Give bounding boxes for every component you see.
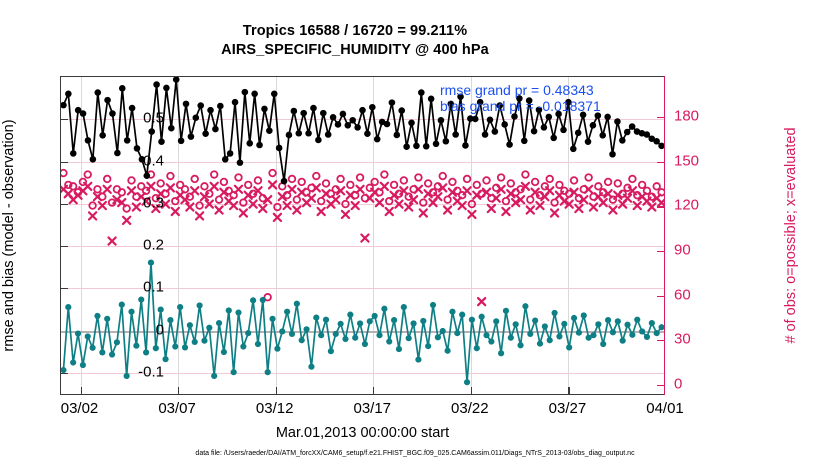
data-file-footer: data file: /Users/raeder/DAI/ATM_forcXX/… xyxy=(0,450,830,457)
chart-title-block: Tropics 16588 / 16720 = 99.211% AIRS_SPE… xyxy=(0,22,710,60)
y-tick-label-right: 150 xyxy=(674,152,699,169)
y-tick-label-left: 0.3 xyxy=(143,194,164,211)
x-tick-label: 03/22 xyxy=(451,400,489,417)
x-tick-label: 03/17 xyxy=(353,400,391,417)
y-axis-left-label: rmse and bias (model - observation) xyxy=(0,76,20,395)
x-tick-label: 03/02 xyxy=(61,400,99,417)
y-axis-right-label: # of obs: o=possible; x=evaluated xyxy=(780,76,802,395)
y-tick-label-right: 60 xyxy=(674,286,691,303)
y-tick-label-right: 180 xyxy=(674,108,699,125)
y-tick-label-left: 0.5 xyxy=(143,110,164,127)
y-tick-label-right: 90 xyxy=(674,242,691,259)
chart-legend: rmse grand pr = 0.48343 bias grand pr = … xyxy=(440,82,601,114)
y-tick-label-left: -0.1 xyxy=(138,363,164,380)
x-axis-label: Mar.01,2013 00:00:00 start xyxy=(60,425,665,441)
legend-item-rmse: rmse grand pr = 0.48343 xyxy=(440,82,601,98)
y-tick-label-left: 0 xyxy=(156,321,164,338)
y-tick-label-left: 0.2 xyxy=(143,237,164,254)
y-tick-label-left: 0.4 xyxy=(143,152,164,169)
chart-title-line1: Tropics 16588 / 16720 = 99.211% xyxy=(0,22,710,41)
legend-item-bias: bias grand pr = -0.018371 xyxy=(440,98,601,114)
x-tick-label: 04/01 xyxy=(646,400,684,417)
right-axis-spine xyxy=(664,76,665,395)
y-tick-label-right: 30 xyxy=(674,331,691,348)
chart-title-line2: AIRS_SPECIFIC_HUMIDITY @ 400 hPa xyxy=(0,41,710,60)
y-tick-label-left: 0.1 xyxy=(143,279,164,296)
x-tick-label: 03/07 xyxy=(158,400,196,417)
y-tick-label-right: 0 xyxy=(674,375,682,392)
y-tick-label-right: 120 xyxy=(674,197,699,214)
x-tick-label: 03/12 xyxy=(256,400,294,417)
x-tick-label: 03/27 xyxy=(549,400,587,417)
